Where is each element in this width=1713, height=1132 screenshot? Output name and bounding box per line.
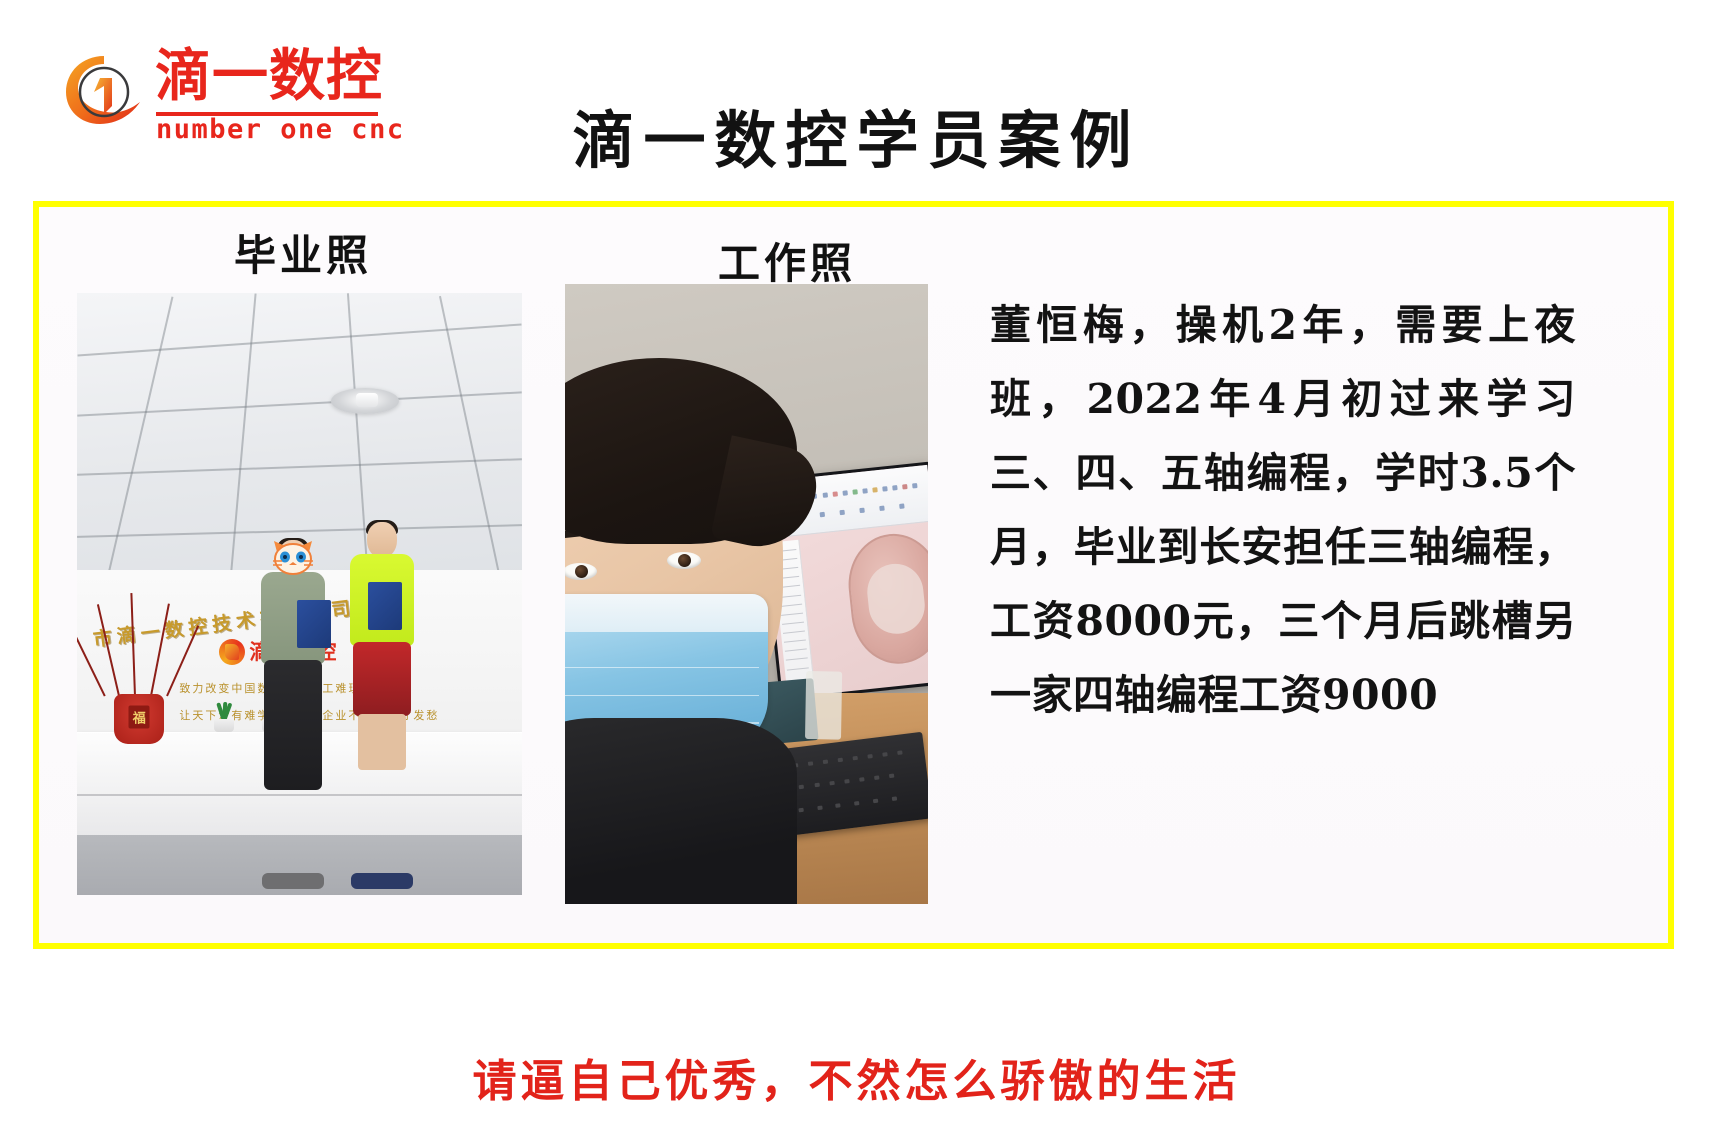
case-study-text: 董恒梅，操机2年，需要上夜班，2022年4月初过来学习三、四、五轴编程，学时3.… — [990, 288, 1576, 732]
graduation-photo-label: 毕业照 — [234, 232, 372, 280]
graduate-person-left — [255, 540, 331, 889]
mask-top-band — [565, 594, 768, 632]
footer-slogan: 请逼自己优秀，不然怎么骄傲的生活 — [0, 1055, 1713, 1109]
potted-plant-left — [211, 702, 237, 732]
eye-right — [667, 552, 701, 569]
person-black-shirt — [565, 718, 797, 904]
logo-text-chinese: 滴一数控 — [155, 48, 383, 106]
ceiling-light — [331, 388, 399, 414]
graduation-photo: 市滴一数控技术有限公司 滴一数控 致力改变中国数控行业招工难现象 让天下没有难学… — [77, 293, 522, 895]
shorts — [353, 642, 411, 716]
red-vase — [114, 694, 164, 745]
cat-face-emoji-overlay-icon — [271, 538, 315, 576]
work-photo — [565, 284, 928, 904]
certificate-booklet — [297, 600, 331, 648]
graduate-person-right — [340, 522, 425, 889]
wall-logo-ring-icon — [219, 639, 245, 665]
eye-left — [565, 563, 597, 580]
legs — [358, 714, 406, 770]
work-photo-label: 工作照 — [718, 240, 856, 288]
red-flower-arrangement — [95, 624, 184, 744]
shoes — [262, 873, 324, 889]
cad-3d-ring-model — [844, 530, 928, 669]
sandals — [351, 873, 413, 889]
page-title: 滴一数控学员案例 — [0, 104, 1713, 178]
head — [367, 522, 397, 558]
certificate-booklet — [368, 582, 402, 630]
legs — [264, 660, 322, 790]
